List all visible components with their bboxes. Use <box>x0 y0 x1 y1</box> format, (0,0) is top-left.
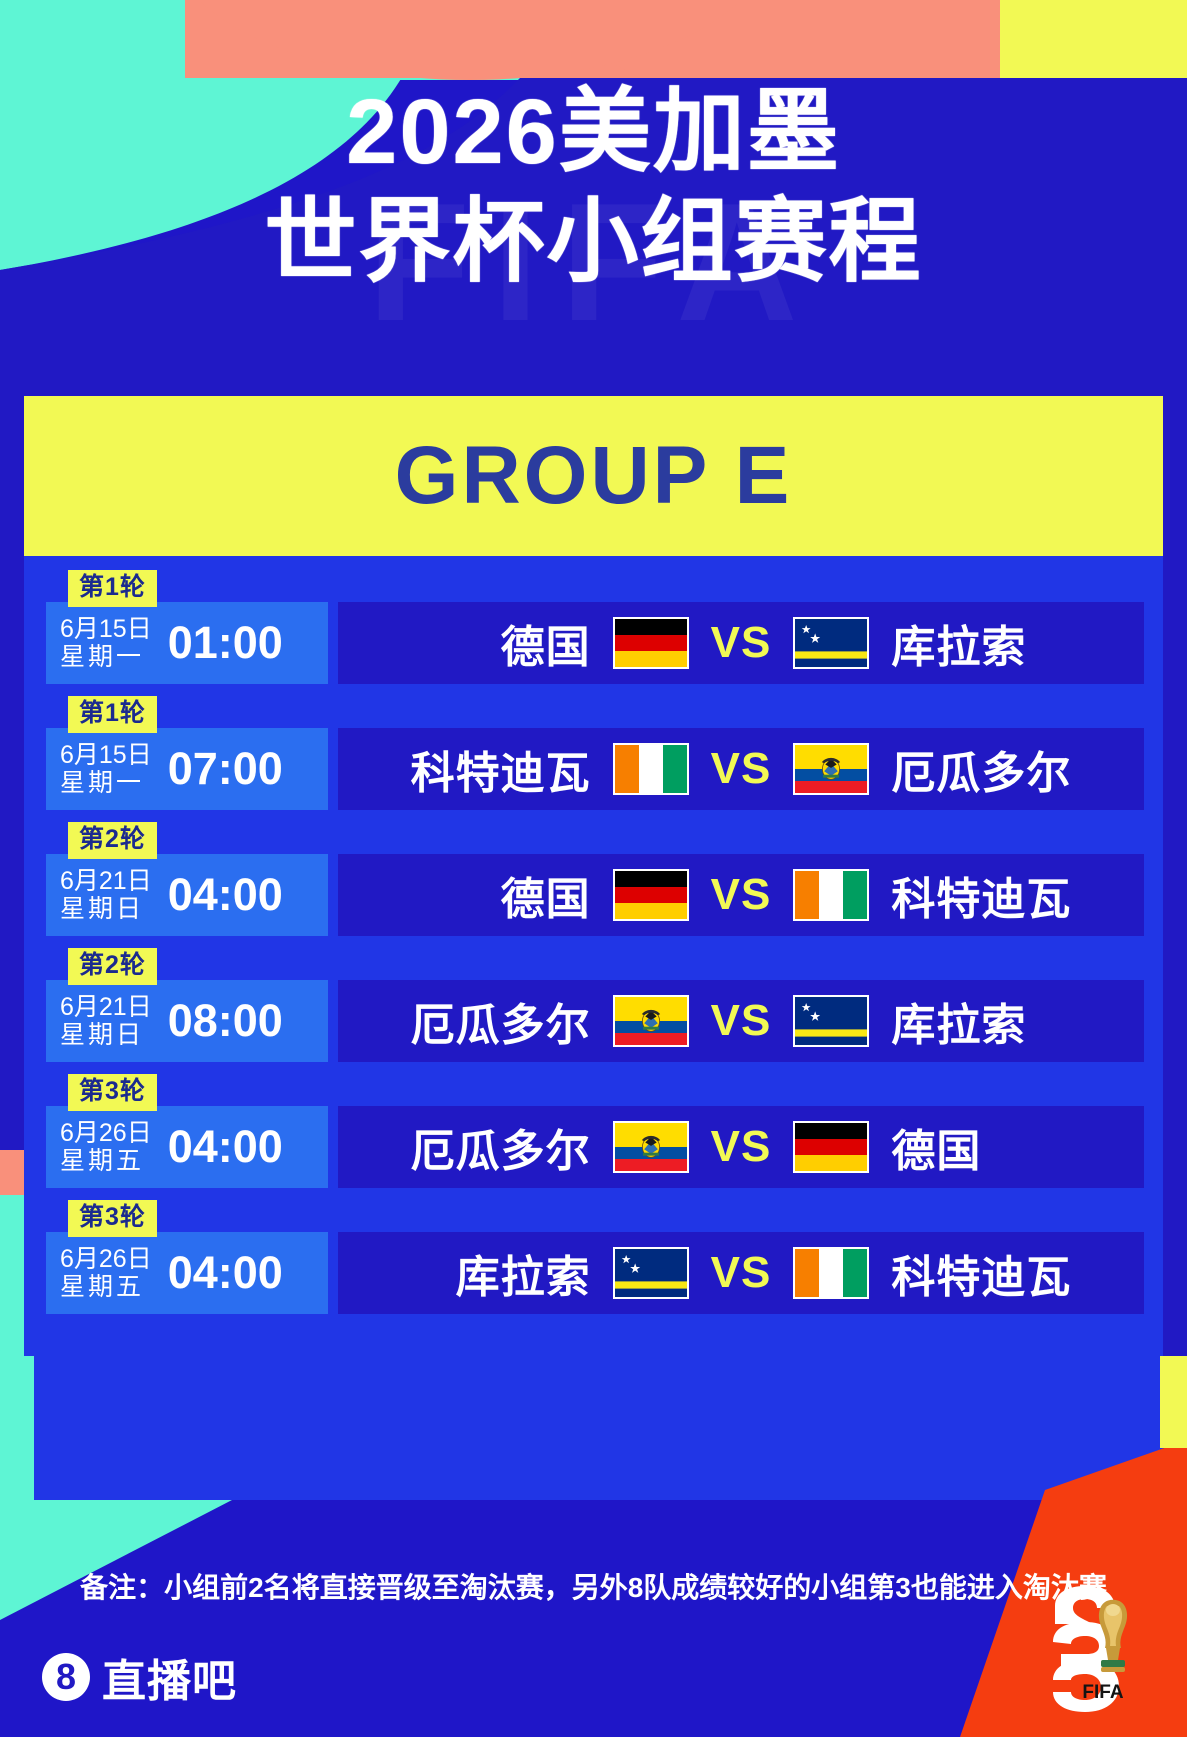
home-team-name: 库拉索 <box>359 1241 591 1305</box>
match-teams: 科特迪瓦VS厄瓜多尔 <box>338 728 1144 810</box>
match-date-block: 6月21日星期日 <box>60 993 152 1049</box>
match-date-block: 6月15日星期一 <box>60 615 152 671</box>
match-teams: 德国VS库拉索 <box>338 602 1144 684</box>
match-time: 04:00 <box>168 1121 283 1173</box>
match-weekday: 星期日 <box>60 1021 152 1049</box>
cote-divoire-flag <box>613 743 689 795</box>
round-badge: 第3轮 <box>68 1074 157 1111</box>
vs-label: VS <box>711 618 772 668</box>
away-team-name: 厄瓜多尔 <box>891 737 1123 801</box>
match-date-time: 6月26日星期五04:00 <box>46 1106 328 1188</box>
match-row[interactable]: 6月15日星期一01:00第1轮德国VS库拉索 <box>46 602 1144 684</box>
curacao-flag <box>613 1247 689 1299</box>
group-banner: GROUP E <box>24 396 1163 556</box>
match-date: 6月26日 <box>60 1245 152 1273</box>
cote-divoire-flag <box>793 1247 869 1299</box>
home-team-name: 德国 <box>359 611 591 675</box>
ecuador-flag <box>793 743 869 795</box>
germany-flag <box>793 1121 869 1173</box>
match-weekday: 星期一 <box>60 643 152 671</box>
right-yellow-sliver <box>1160 1356 1187 1448</box>
germany-flag <box>613 617 689 669</box>
match-date-time: 6月15日星期一07:00 <box>46 728 328 810</box>
match-teams: 库拉索VS科特迪瓦 <box>338 1232 1144 1314</box>
home-team-name: 厄瓜多尔 <box>359 1115 591 1179</box>
match-teams: 厄瓜多尔VS德国 <box>338 1106 1144 1188</box>
poster-title-line2: 世界杯小组赛程 <box>0 196 1187 290</box>
match-weekday: 星期日 <box>60 895 152 923</box>
poster-title-line1: 2026美加墨 <box>0 86 1187 180</box>
away-team-name: 科特迪瓦 <box>891 863 1123 927</box>
match-time: 07:00 <box>168 743 283 795</box>
away-team-name: 库拉索 <box>891 611 1123 675</box>
match-teams: 厄瓜多尔VS库拉索 <box>338 980 1144 1062</box>
germany-flag <box>613 869 689 921</box>
away-team-name: 科特迪瓦 <box>891 1241 1123 1305</box>
brand-mark-icon: 8 <box>42 1653 90 1701</box>
schedule-panel: 6月15日星期一01:00第1轮德国VS库拉索6月15日星期一07:00第1轮科… <box>24 556 1163 1356</box>
fifa-emblem-org: FIFA <box>1082 1682 1123 1703</box>
ecuador-flag <box>613 995 689 1047</box>
vs-label: VS <box>711 1122 772 1172</box>
away-team-name: 德国 <box>891 1115 1123 1179</box>
brand-name: 直播吧 <box>102 1645 237 1709</box>
match-teams: 德国VS科特迪瓦 <box>338 854 1144 936</box>
match-date: 6月15日 <box>60 615 152 643</box>
brand-logo[interactable]: 8 直播吧 <box>42 1645 237 1709</box>
vs-label: VS <box>711 1248 772 1298</box>
match-date: 6月26日 <box>60 1119 152 1147</box>
match-date: 6月21日 <box>60 993 152 1021</box>
curacao-flag <box>793 995 869 1047</box>
match-row[interactable]: 6月15日星期一07:00第1轮科特迪瓦VS厄瓜多尔 <box>46 728 1144 810</box>
match-date-block: 6月21日星期日 <box>60 867 152 923</box>
match-date: 6月15日 <box>60 741 152 769</box>
round-badge: 第2轮 <box>68 822 157 859</box>
match-row[interactable]: 6月21日星期日08:00第2轮厄瓜多尔VS库拉索 <box>46 980 1144 1062</box>
match-date-block: 6月15日星期一 <box>60 741 152 797</box>
match-date-block: 6月26日星期五 <box>60 1119 152 1175</box>
left-mint-sliver <box>0 1356 28 1430</box>
round-badge: 第3轮 <box>68 1200 157 1237</box>
poster-header: FIFA 2026美加墨 世界杯小组赛程 <box>0 60 1187 390</box>
match-time: 08:00 <box>168 995 283 1047</box>
match-row[interactable]: 6月21日星期日04:00第2轮德国VS科特迪瓦 <box>46 854 1144 936</box>
match-date: 6月21日 <box>60 867 152 895</box>
match-date-time: 6月21日星期日04:00 <box>46 854 328 936</box>
match-time: 04:00 <box>168 869 283 921</box>
vs-label: VS <box>711 996 772 1046</box>
match-time: 04:00 <box>168 1247 283 1299</box>
match-weekday: 星期五 <box>60 1273 152 1301</box>
vs-label: VS <box>711 744 772 794</box>
match-weekday: 星期五 <box>60 1147 152 1175</box>
round-badge: 第1轮 <box>68 570 157 607</box>
fifa-26-emblem-icon: FIFA <box>1043 1584 1163 1714</box>
match-weekday: 星期一 <box>60 769 152 797</box>
curacao-flag <box>793 617 869 669</box>
match-row[interactable]: 6月26日星期五04:00第3轮库拉索VS科特迪瓦 <box>46 1232 1144 1314</box>
cote-divoire-flag <box>793 869 869 921</box>
group-label: GROUP E <box>395 429 793 523</box>
match-row[interactable]: 6月26日星期五04:00第3轮厄瓜多尔VS德国 <box>46 1106 1144 1188</box>
match-date-block: 6月26日星期五 <box>60 1245 152 1301</box>
vs-label: VS <box>711 870 772 920</box>
match-time: 01:00 <box>168 617 283 669</box>
match-date-time: 6月26日星期五04:00 <box>46 1232 328 1314</box>
home-team-name: 科特迪瓦 <box>359 737 591 801</box>
match-date-time: 6月15日星期一01:00 <box>46 602 328 684</box>
round-badge: 第1轮 <box>68 696 157 733</box>
home-team-name: 厄瓜多尔 <box>359 989 591 1053</box>
away-team-name: 库拉索 <box>891 989 1123 1053</box>
home-team-name: 德国 <box>359 863 591 927</box>
round-badge: 第2轮 <box>68 948 157 985</box>
ecuador-flag <box>613 1121 689 1173</box>
match-date-time: 6月21日星期日08:00 <box>46 980 328 1062</box>
footnote-text: 备注：小组前2名将直接晋级至淘汰赛，另外8队成绩较好的小组第3也能进入淘汰赛 <box>0 1566 1187 1606</box>
